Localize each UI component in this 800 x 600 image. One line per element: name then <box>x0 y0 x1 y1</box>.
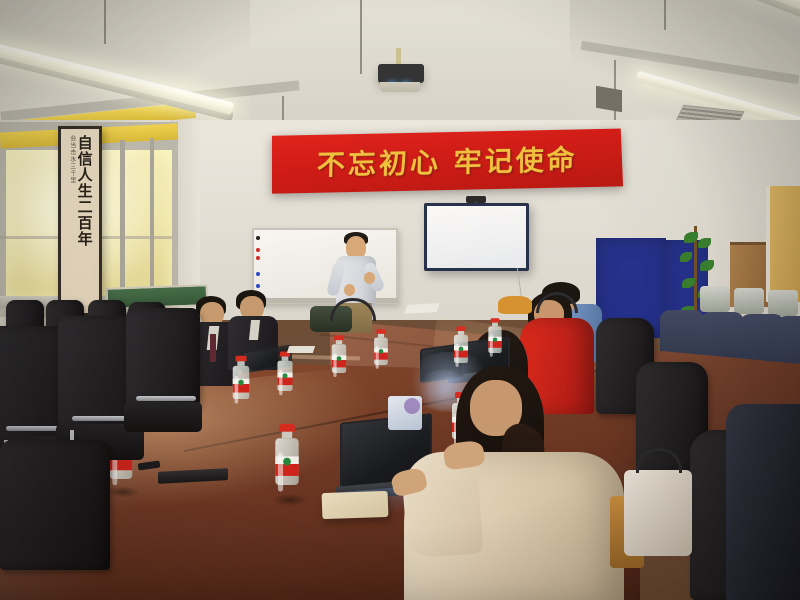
presenter-hand-left <box>344 284 355 296</box>
ceiling-speaker <box>596 86 622 113</box>
scroll-secondary-text: 会当击水三千里 <box>68 135 74 184</box>
water-bottle[interactable] <box>488 318 501 353</box>
display-screen-surface <box>427 206 526 268</box>
attendee-yellow-hairband <box>498 296 532 314</box>
bottle-shadow <box>272 494 308 506</box>
calligraphy-scroll: 自信人生二百年 会当击水三千里 <box>58 126 102 316</box>
whiteboard-magnet <box>256 248 260 252</box>
chair-headrest <box>700 286 730 312</box>
chair-headrest <box>734 288 764 314</box>
water-bottle[interactable] <box>332 335 346 373</box>
whiteboard-magnet <box>256 256 260 260</box>
cream-box[interactable] <box>322 491 389 519</box>
photo-scene: 自信人生二百年 会当击水三千里 不忘初心 牢记使命 <box>0 0 800 600</box>
water-bottle[interactable] <box>275 424 298 485</box>
window-mullion <box>150 138 154 310</box>
foreground-chair[interactable] <box>726 404 800 600</box>
light-hanger <box>104 0 106 44</box>
projector-hanger <box>360 0 362 74</box>
chair-headrest <box>768 290 798 316</box>
window-mullion <box>120 140 125 310</box>
room-door[interactable] <box>766 186 800 302</box>
whiteboard-magnet <box>256 272 260 276</box>
water-bottle[interactable] <box>454 326 468 363</box>
water-bottle[interactable] <box>374 329 388 365</box>
whiteboard-magnet <box>256 284 260 288</box>
attendee-tie <box>210 334 216 362</box>
tissue-packet-pattern <box>404 398 420 414</box>
wall-display-screen <box>424 203 529 271</box>
scroll-main-text: 自信人生二百年 <box>76 135 92 307</box>
paper-sheet[interactable] <box>287 346 315 353</box>
water-bottle[interactable] <box>277 352 292 391</box>
banner-text: 不忘初心 牢记使命 <box>316 138 577 183</box>
ceiling-projector <box>378 64 424 83</box>
water-bottle[interactable] <box>233 356 250 399</box>
handbag[interactable] <box>624 470 692 556</box>
light-hanger <box>664 0 666 30</box>
red-slogan-banner: 不忘初心 牢记使命 <box>272 129 623 194</box>
bottle-shadow <box>106 486 140 498</box>
notepad[interactable] <box>404 303 439 314</box>
projector-lens-housing <box>380 82 420 92</box>
presenter-hand-right <box>364 272 375 284</box>
whiteboard-magnet <box>256 236 260 240</box>
